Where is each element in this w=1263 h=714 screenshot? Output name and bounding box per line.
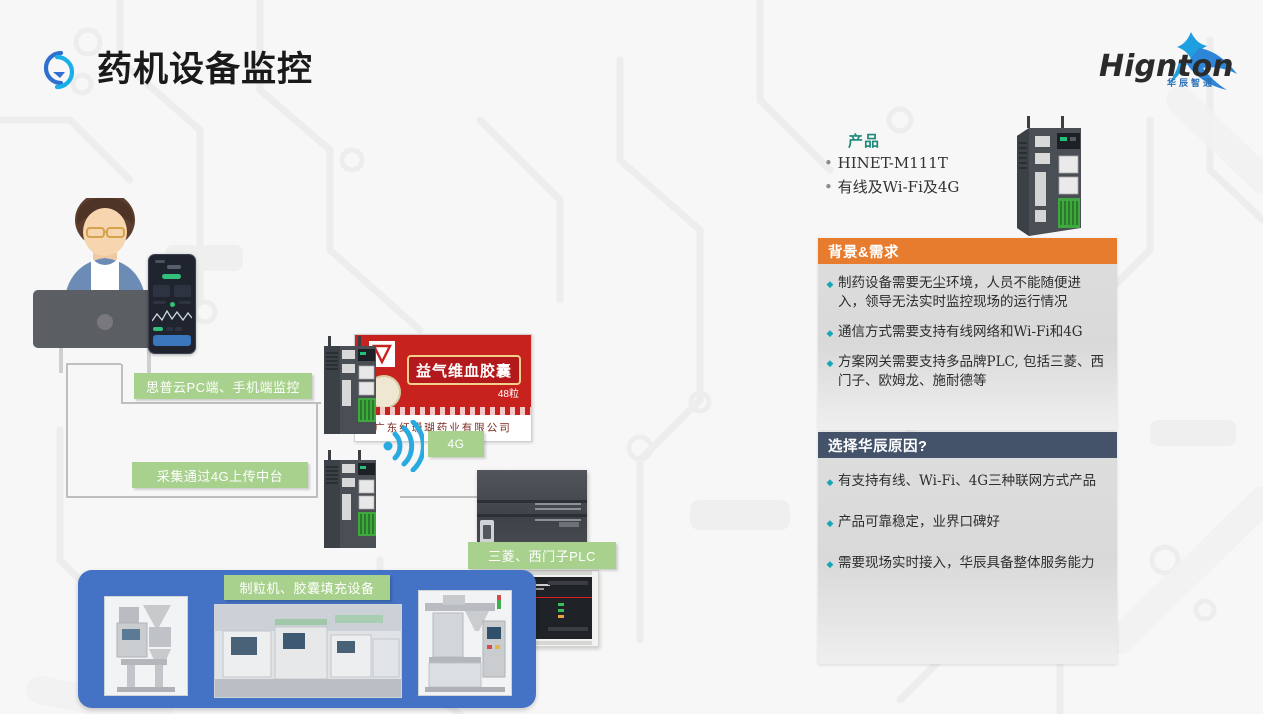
hinet-gateway-icon	[322, 336, 378, 436]
connector-cloud-line	[121, 402, 321, 404]
product-item-label: 有线及Wi-Fi及4G	[838, 178, 960, 196]
product-item-label: HINET-M111T	[838, 154, 948, 172]
medicine-count: 48粒	[498, 385, 519, 400]
bullet-item: ◆ 需要现场实时接入，华辰具备整体服务能力	[822, 554, 1105, 573]
panel-why-hignton: 选择华辰原因? ◆ 有支持有线、Wi-Fi、4G三种联网方式产品 ◆ 产品可靠稳…	[818, 432, 1117, 664]
info-column: 产品 • HINET-M111T • 有线及Wi-Fi及4G	[818, 118, 1118, 678]
diamond-bullet-icon: ◆	[822, 323, 838, 338]
diamond-bullet-icon: ◆	[822, 513, 838, 528]
panel-header-background-requirements: 背景&需求	[818, 238, 1117, 264]
product-item-1: • 有线及Wi-Fi及4G	[824, 176, 959, 197]
bullet-text: 产品可靠稳定，业界口碑好	[838, 513, 1105, 532]
bullet-item: ◆ 有支持有线、Wi-Fi、4G三种联网方式产品	[822, 472, 1105, 491]
panel-header-why-hignton: 选择华辰原因?	[818, 432, 1117, 458]
medicine-name: 益气维血胶囊	[407, 355, 521, 385]
circular-link-logo-icon	[33, 45, 87, 95]
medicine-box-image: 益气维血胶囊 48粒 广东红珊瑚药业有限公司	[354, 334, 532, 442]
bullet-item: ◆ 制药设备需要无尘环境，人员不能随便进入，领导无法实时监控现场的运行情况	[822, 274, 1105, 312]
architecture-diagram: 益气维血胶囊 48粒 广东红珊瑚药业有限公司	[0, 118, 660, 714]
diamond-bullet-icon: ◆	[822, 554, 838, 569]
hinet-gateway-icon	[322, 450, 378, 550]
brand-subtitle: 华辰智通	[1167, 76, 1215, 89]
panel-background-requirements: 背景&需求 ◆ 制药设备需要无尘环境，人员不能随便进入，领导无法实时监控现场的运…	[818, 238, 1117, 430]
connector-plc-bottom	[400, 496, 480, 498]
product-item-0: • HINET-M111T	[824, 154, 948, 172]
page-title: 药机设备监控	[97, 44, 313, 96]
diamond-bullet-icon: ◆	[822, 353, 838, 368]
machine-photo-capsule-filler	[418, 590, 512, 696]
product-heading: 产品	[848, 130, 880, 151]
hinet-m111t-device-icon	[1013, 116, 1085, 241]
machine-photo-granulator	[104, 596, 188, 696]
connector-machines-line	[316, 402, 318, 498]
diamond-bullet-icon: ◆	[822, 274, 838, 289]
panel-title: 选择华辰原因?	[828, 435, 927, 456]
page-header: 药机设备监控 Hignton 华辰智通	[0, 0, 1263, 118]
bullet-text: 需要现场实时接入，华辰具备整体服务能力	[838, 554, 1105, 573]
tag-machines[interactable]: 制粒机、胶囊填充设备	[224, 575, 390, 600]
bullet-text: 制药设备需要无尘环境，人员不能随便进入，领导无法实时监控现场的运行情况	[838, 274, 1105, 312]
machine-photo-production-line	[214, 604, 402, 698]
panel-title: 背景&需求	[828, 241, 899, 262]
panel-body-why-hignton: ◆ 有支持有线、Wi-Fi、4G三种联网方式产品 ◆ 产品可靠稳定，业界口碑好 …	[818, 458, 1117, 592]
bullet-text: 方案网关需要支持多品牌PLC, 包括三菱、西门子、欧姆龙、施耐德等	[838, 353, 1105, 391]
wifi-signal-icon	[382, 420, 424, 472]
bullet-item: ◆ 通信方式需要支持有线网络和Wi-Fi和4G	[822, 323, 1105, 342]
connector-bottom-branch	[66, 496, 316, 498]
mobile-dashboard-icon	[148, 254, 196, 354]
bullet-dot: •	[824, 178, 833, 196]
bullet-item: ◆ 产品可靠稳定，业界口碑好	[822, 513, 1105, 532]
bullet-text: 有支持有线、Wi-Fi、4G三种联网方式产品	[838, 472, 1105, 491]
tag-link-4g[interactable]: 4G	[428, 431, 484, 457]
tag-plc-brands[interactable]: 三菱、西门子PLC	[468, 542, 616, 569]
bullet-text: 通信方式需要支持有线网络和Wi-Fi和4G	[838, 323, 1105, 342]
bullet-item: ◆ 方案网关需要支持多品牌PLC, 包括三菱、西门子、欧姆龙、施耐德等	[822, 353, 1105, 391]
diamond-bullet-icon: ◆	[822, 472, 838, 487]
connector-vertical-main	[66, 363, 68, 498]
panel-body-background-requirements: ◆ 制药设备需要无尘环境，人员不能随便进入，领导无法实时监控现场的运行情况 ◆ …	[818, 264, 1117, 410]
tag-upload-4g[interactable]: 采集通过4G上传中台	[132, 462, 308, 488]
bullet-dot: •	[824, 154, 833, 172]
tag-cloud-monitor[interactable]: 思普云PC端、手机端监控	[134, 373, 312, 399]
